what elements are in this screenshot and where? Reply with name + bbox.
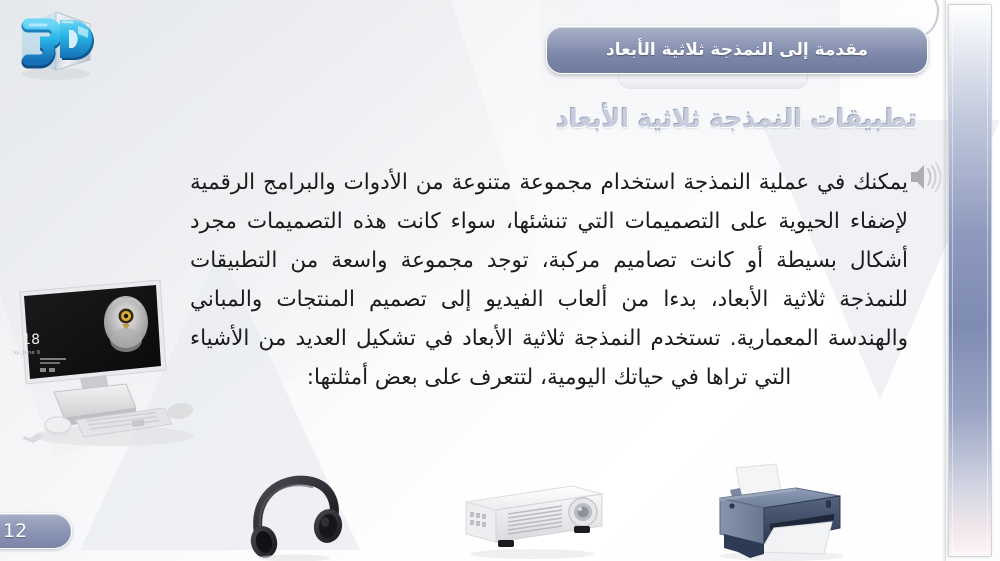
svg-text:6:18: 6:18: [14, 332, 40, 348]
right-side-bar-inner-border: [952, 8, 988, 553]
all-in-one-computer-image: 6:18 Saturday, June 9: [14, 278, 206, 454]
page-number-badge: 12: [0, 513, 72, 549]
right-bar-edge-shadow: [942, 0, 946, 561]
headphones-image: [242, 468, 346, 561]
3d-logo: [8, 4, 104, 84]
printer-image: [700, 462, 864, 561]
slide-header-title: مقدمة إلى النمذجة ثلاثية الأبعاد: [606, 40, 868, 60]
speaker-icon[interactable]: [908, 160, 942, 194]
projector-image: [452, 476, 614, 561]
slide-header-banner: مقدمة إلى النمذجة ثلاثية الأبعاد: [546, 26, 928, 74]
right-side-gradient-bar: [948, 4, 992, 557]
page-number-label: 12: [3, 520, 43, 542]
slide-body-text: يمكنك في عملية النمذجة استخدام مجموعة مت…: [190, 163, 908, 397]
slide-subtitle: تطبيقات النمذجة ثلاثية الأبعاد: [546, 104, 928, 133]
body-paragraph: يمكنك في عملية النمذجة استخدام مجموعة مت…: [190, 163, 908, 397]
slide-canvas: مقدمة إلى النمذجة ثلاثية الأبعاد تطبيقات…: [0, 0, 1000, 561]
svg-text:Saturday, June 9: Saturday, June 9: [14, 350, 40, 356]
